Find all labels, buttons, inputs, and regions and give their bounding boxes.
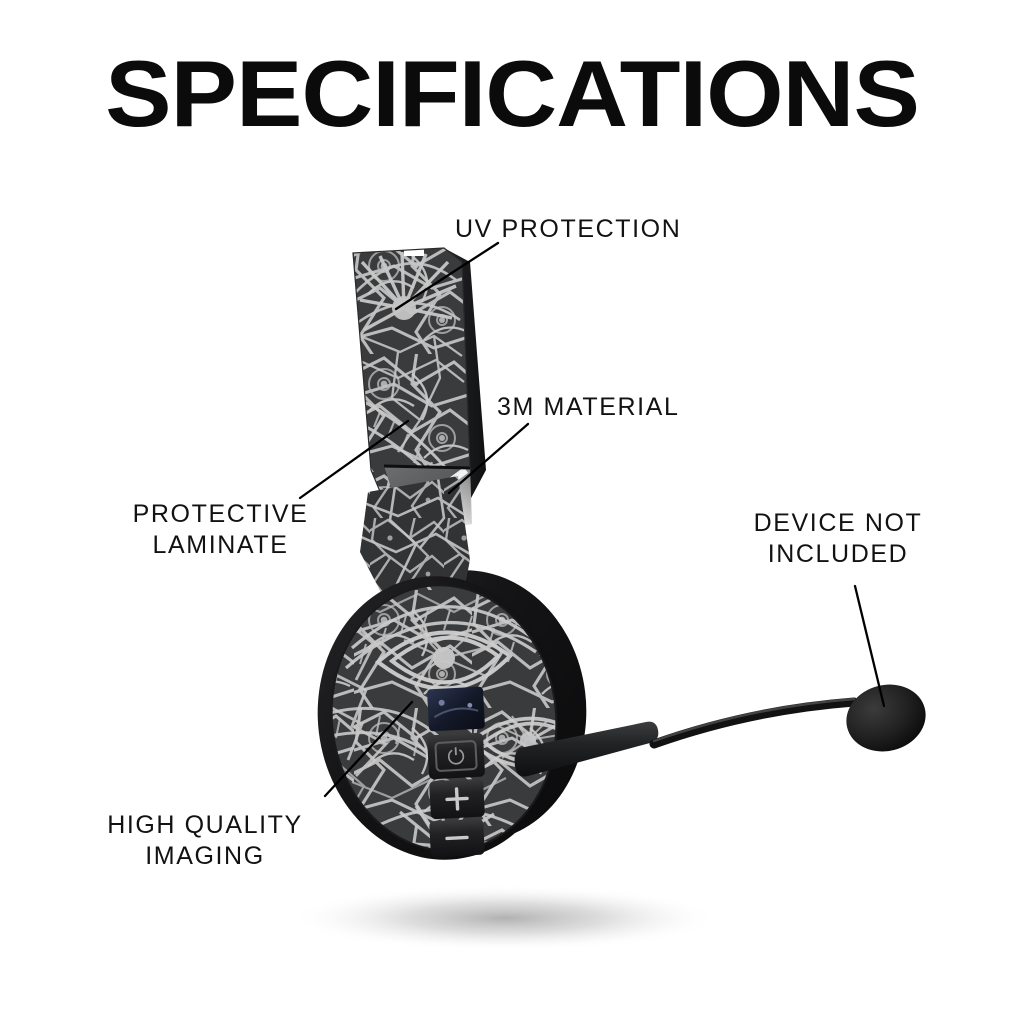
volume-up-button: [429, 779, 485, 820]
volume-down-button: [429, 819, 485, 858]
callout-device-not-included: DEVICE NOT INCLUDED: [732, 508, 944, 570]
leader-device-not-included: [855, 586, 884, 706]
callout-uv-protection: UV PROTECTION: [455, 214, 681, 245]
product-shadow: [290, 885, 720, 951]
control-strip: ⏻: [427, 687, 485, 858]
svg-text:⏻: ⏻: [447, 745, 466, 771]
boom-gooseneck: [654, 702, 854, 744]
callout-high-quality-imaging: HIGH QUALITY IMAGING: [74, 810, 336, 872]
power-button: ⏻: [427, 733, 485, 780]
microphone-foam-tip: [839, 676, 933, 759]
callout-protective-laminate: PROTECTIVE LAMINATE: [118, 499, 323, 561]
infographic-canvas: SPECIFICATIONS: [0, 0, 1024, 1024]
callout-3m-material: 3M MATERIAL: [497, 392, 679, 423]
